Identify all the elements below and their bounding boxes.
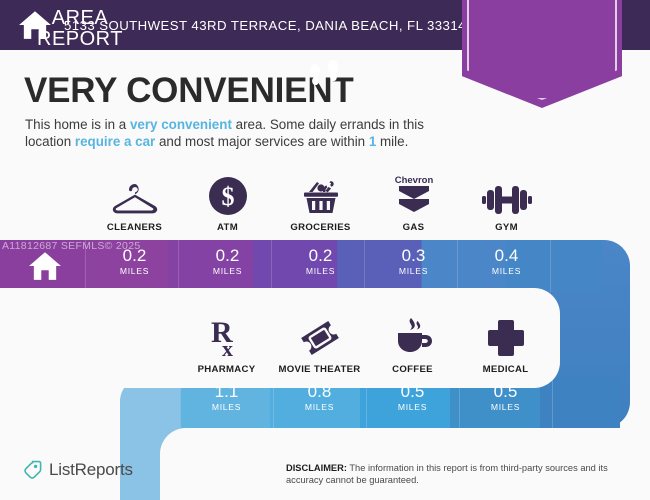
- distance-unit: MILES: [459, 402, 552, 412]
- ticket-icon: [298, 312, 342, 358]
- amenity-gas: Chevron GAS: [367, 170, 460, 233]
- distance-value: 1.1: [180, 382, 273, 401]
- distance-unit: MILES: [181, 266, 274, 276]
- amenity-label: COFFEE: [392, 364, 433, 375]
- badge-line-1: AREA: [0, 8, 160, 29]
- amenity-pharmacy: R x PHARMACY: [180, 312, 273, 375]
- amenity-cleaners: CLEANERS: [88, 170, 181, 233]
- home-icon: [28, 249, 62, 283]
- hanger-icon: [111, 170, 159, 216]
- listreports-logo-text: ListReports: [49, 460, 133, 480]
- disclaimer-label: DISCLAIMER:: [286, 463, 347, 473]
- amenity-label: MEDICAL: [483, 364, 529, 375]
- distance-unit: MILES: [88, 266, 181, 276]
- listreports-logo[interactable]: ListReports: [22, 460, 133, 480]
- distance-unit: MILES: [180, 402, 273, 412]
- amenity-label: ATM: [217, 222, 238, 233]
- badge-line-2: REPORT: [0, 29, 160, 50]
- distance-unit: MILES: [274, 266, 367, 276]
- area-report-badge: [462, 0, 622, 108]
- distance-value: 0.4: [460, 246, 553, 265]
- distance-row-1: 0.2 MILES 0.2 MILES 0.2 MILES 0.3 MILES …: [88, 246, 553, 276]
- distance-cell: 0.5 MILES: [459, 382, 552, 412]
- mls-watermark: A11812687 SEFMLS© 2025: [2, 240, 140, 252]
- badge-border: [467, 0, 617, 100]
- svg-text:$: $: [221, 182, 234, 211]
- desc-highlight-1: very convenient: [130, 117, 232, 132]
- distance-value: 0.2: [274, 246, 367, 265]
- distance-cell: 0.2 MILES: [181, 246, 274, 276]
- desc-part-3: and most major services are within: [155, 134, 369, 149]
- distance-value: 0.2: [181, 246, 274, 265]
- amenity-icon-row-2: R x PHARMACY MOVIE THEATER: [180, 312, 552, 375]
- badge-text: AREA REPORT: [0, 8, 160, 50]
- amenity-gym: GYM: [460, 170, 553, 233]
- svg-text:x: x: [222, 336, 233, 358]
- amenity-icon-row-1: CLEANERS $ ATM: [88, 170, 553, 233]
- distance-cell: 0.4 MILES: [460, 246, 553, 276]
- amenity-medical: MEDICAL: [459, 312, 552, 375]
- distance-unit: MILES: [460, 266, 553, 276]
- distance-cell: 0.5 MILES: [366, 382, 459, 412]
- svg-text:Chevron: Chevron: [394, 175, 433, 186]
- distance-cell: 0.2 MILES: [274, 246, 367, 276]
- amenity-label: MOVIE THEATER: [278, 364, 360, 375]
- amenity-label: CLEANERS: [107, 222, 162, 233]
- dollar-circle-icon: $: [208, 170, 248, 216]
- distance-unit: MILES: [366, 402, 459, 412]
- distance-cell: 0.3 MILES: [367, 246, 460, 276]
- desc-part-1: This home is in a: [25, 117, 130, 132]
- amenity-label: PHARMACY: [198, 364, 256, 375]
- distance-value: 0.5: [459, 382, 552, 401]
- amenity-atm: $ ATM: [181, 170, 274, 233]
- footprints-icon: [303, 58, 347, 88]
- desc-part-4: mile.: [376, 134, 408, 149]
- rx-icon: R x: [207, 312, 247, 358]
- distance-unit: MILES: [367, 266, 460, 276]
- grocery-basket-icon: [299, 170, 343, 216]
- area-report-page: 5133 SOUTHWEST 43RD TERRACE, DANIA BEACH…: [0, 0, 650, 500]
- distance-value: 0.5: [366, 382, 459, 401]
- dumbbell-icon: [482, 170, 532, 216]
- distance-unit: MILES: [273, 402, 366, 412]
- medical-cross-icon: [486, 312, 526, 358]
- amenity-label: GYM: [495, 222, 518, 233]
- distance-value: 0.3: [367, 246, 460, 265]
- disclaimer: DISCLAIMER: The information in this repo…: [286, 462, 636, 486]
- amenity-label: GAS: [403, 222, 425, 233]
- chevron-logo-icon: Chevron: [390, 170, 438, 216]
- page-description: This home is in a very convenient area. …: [25, 116, 465, 150]
- distance-value: 0.8: [273, 382, 366, 401]
- amenity-groceries: GROCERIES: [274, 170, 367, 233]
- distance-cell: 1.1 MILES: [180, 382, 273, 412]
- coffee-cup-icon: [391, 312, 435, 358]
- distance-row-2: 1.1 MILES 0.8 MILES 0.5 MILES 0.5 MILES: [180, 382, 552, 412]
- amenity-coffee: COFFEE: [366, 312, 459, 375]
- distance-cell: 0.8 MILES: [273, 382, 366, 412]
- amenity-label: GROCERIES: [290, 222, 350, 233]
- listreports-tag-icon: [22, 460, 42, 480]
- amenity-movie-theater: MOVIE THEATER: [273, 312, 366, 375]
- desc-highlight-2: require a car: [75, 134, 155, 149]
